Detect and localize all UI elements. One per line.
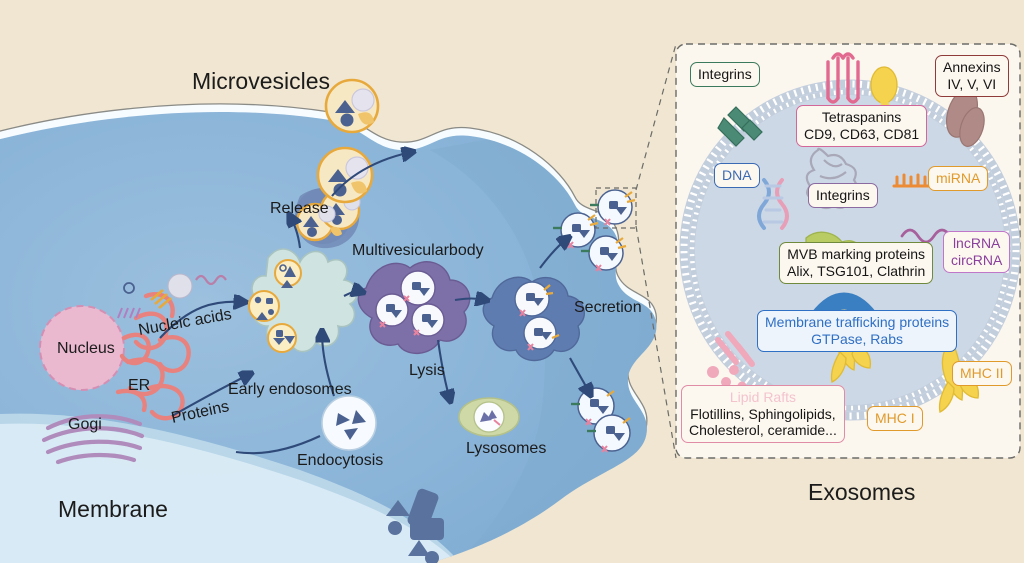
callout-tetraspanins: Tetraspanins CD9, CD63, CD81: [796, 105, 927, 147]
callout-line: circRNA: [951, 252, 1002, 269]
callout-line: miRNA: [936, 170, 980, 187]
callout-line: Tetraspanins: [804, 109, 919, 126]
callout-line: MHC II: [960, 365, 1004, 382]
callout-dna: DNA: [714, 163, 760, 188]
callout-line: CD9, CD63, CD81: [804, 126, 919, 143]
callout-line: MVB marking proteins: [787, 246, 925, 263]
callout-annexins: Annexins IV, V, VI: [935, 55, 1009, 97]
callout-integrins-outer: Integrins: [690, 62, 760, 87]
callout-line: Cholesterol, ceramide...: [689, 422, 837, 439]
callout-line: Annexins: [943, 59, 1001, 76]
callout-mhc-ii: MHC II: [952, 361, 1012, 386]
callout-line: MHC I: [875, 410, 915, 427]
callout-membrane-trafficking-proteins: Membrane trafficking proteins GTPase, Ra…: [757, 310, 957, 352]
callout-line: Alix, TSG101, Clathrin: [787, 263, 925, 280]
figure-root: Microvesicles Release Multivesicularbody…: [0, 0, 1024, 563]
callout-integrins-inner: Integrins: [808, 183, 878, 208]
callout-line: lncRNA: [951, 235, 1002, 252]
callout-line: Integrins: [698, 66, 752, 83]
callout-line: Membrane trafficking proteins: [765, 314, 949, 331]
exosomes-title: Exosomes: [808, 479, 915, 506]
callout-lncrna-circrna: lncRNA circRNA: [943, 231, 1010, 273]
callout-line: Integrins: [816, 187, 870, 204]
callout-line: Flotillins, Sphingolipids,: [689, 406, 837, 423]
callout-mhc-i: MHC I: [867, 406, 923, 431]
callout-line: DNA: [722, 167, 752, 184]
callout-lipid-rafts: Lipid Rafts Flotillins, Sphingolipids, C…: [681, 385, 845, 443]
callout-line: GTPase, Rabs: [765, 331, 949, 348]
callout-mirna: miRNA: [928, 166, 988, 191]
callout-heading: Lipid Rafts: [689, 389, 837, 406]
callout-line: IV, V, VI: [943, 76, 1001, 93]
zoom-connector-lines: [636, 44, 676, 458]
callout-mvb-marking-proteins: MVB marking proteins Alix, TSG101, Clath…: [779, 242, 933, 284]
